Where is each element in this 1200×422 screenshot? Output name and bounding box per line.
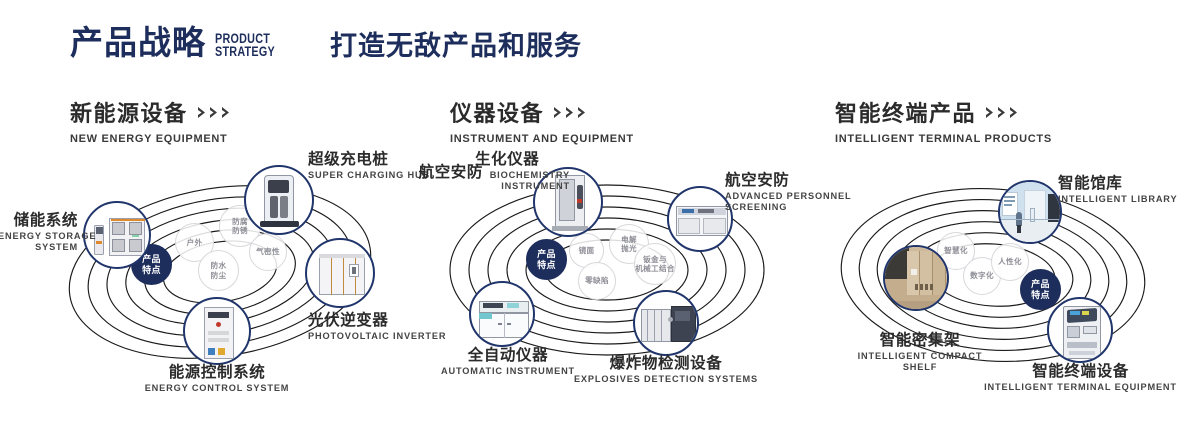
cluster-new-energy: 户外 防腐防锈 防水防尘 气密性 产品特点 储能系统 ENERGY STORAG…	[50, 150, 390, 390]
charging-pile-icon	[246, 167, 312, 233]
section-title-en: INTELLIGENT TERMINAL PRODUCTS	[835, 133, 1052, 145]
feature-bubble: 人性化	[991, 243, 1029, 281]
control-cabinet-icon	[185, 299, 249, 363]
node-label-biochemistry-instrument: 生化仪器 BIOCHEMISTRYINSTRUMENT	[475, 151, 585, 191]
node-intelligent-terminal-equipment[interactable]	[1047, 297, 1113, 363]
node-label-intelligent-compact-shelf: 智能密集架 INTELLIGENT COMPACTSHELF	[825, 332, 1015, 372]
cluster-intelligent-terminal: 智慧化 数字化 人性化 产品特点 智能馆库 INTELLIGENT	[815, 150, 1175, 400]
node-explosives-detection-system[interactable]	[633, 290, 699, 356]
chevron-right-triple-icon	[985, 106, 1020, 119]
node-label-en: ENERGY CONTROL SYSTEM	[87, 383, 347, 393]
smart-library-icon	[1000, 182, 1060, 242]
section-title-en: NEW ENERGY EQUIPMENT	[70, 133, 232, 145]
feature-bubble: 气密性	[249, 233, 287, 271]
chevron-right-triple-icon	[553, 106, 588, 119]
section-heading-new-energy: 新能源设备 NEW ENERGY EQUIPMENT	[70, 96, 232, 145]
node-label-en: INTELLIGENT LIBRARY	[1058, 194, 1198, 204]
auto-analyzer-icon	[471, 283, 533, 345]
cluster-instruments: 镜面 电解抛光 零缺陷 钣金与机械工结合 产品特点 生化仪器 BIOCHEMIS…	[425, 150, 785, 395]
node-label-en: ENERGY STORAGESYSTEM	[0, 231, 78, 252]
page-title-en: PRODUCT STRATEGY	[215, 33, 275, 58]
section-title-cn: 智能终端产品	[835, 96, 976, 128]
chevron-right-triple-icon	[197, 106, 232, 119]
node-label-energy-control-system: 能源控制系统 ENERGY CONTROL SYSTEM	[87, 364, 347, 394]
kiosk-terminal-icon	[1049, 299, 1111, 361]
node-automatic-instrument[interactable]	[469, 281, 535, 347]
feature-bubble: 防水防尘	[198, 250, 239, 291]
node-label-en: INTELLIGENT COMPACTSHELF	[825, 351, 1015, 372]
node-label-en: AUTOMATIC INSTRUMENT	[408, 366, 608, 376]
page-title-en-line2: STRATEGY	[215, 46, 275, 59]
compact-shelf-icon	[885, 247, 947, 309]
screening-machine-icon	[669, 188, 731, 250]
section-heading-intelligent-terminal: 智能终端产品 INTELLIGENT TERMINAL PRODUCTS	[835, 96, 1052, 145]
section-title-cn: 仪器设备	[450, 96, 544, 128]
center-bubble-product-features: 产品特点	[526, 239, 567, 280]
node-super-charging-hub[interactable]	[244, 165, 314, 235]
page-title: 产品战略 PRODUCT STRATEGY	[70, 26, 290, 59]
node-label-energy-storage-system: 储能系统 ENERGY STORAGESYSTEM	[0, 212, 78, 252]
node-label-en: BIOCHEMISTRYINSTRUMENT	[475, 170, 570, 191]
feature-bubble: 零缺陷	[578, 262, 616, 300]
poster-canvas: 产品战略 PRODUCT STRATEGY 打造无敌产品和服务 新能源设备 NE…	[0, 0, 1200, 422]
section-heading-instruments: 仪器设备 INSTRUMENT AND EQUIPMENT	[450, 96, 634, 145]
node-label-en: INTELLIGENT TERMINAL EQUIPMENT	[973, 382, 1188, 392]
section-title-cn: 新能源设备	[70, 96, 188, 128]
page-subtitle: 打造无敌产品和服务	[330, 32, 582, 62]
node-intelligent-compact-shelf[interactable]	[883, 245, 949, 311]
explosives-detector-icon	[635, 292, 697, 354]
node-label-aviation-security-extra: 航空安防	[383, 164, 483, 181]
node-photovoltaic-inverter[interactable]	[305, 238, 375, 308]
node-label-intelligent-library: 智能馆库 INTELLIGENT LIBRARY	[1058, 175, 1198, 205]
inverter-cabinet-icon	[307, 240, 373, 306]
node-intelligent-library[interactable]	[998, 180, 1062, 244]
node-advanced-personnel-screening[interactable]	[667, 186, 733, 252]
section-title-en: INSTRUMENT AND EQUIPMENT	[450, 133, 634, 145]
page-title-cn: 产品战略	[70, 26, 206, 59]
node-energy-control-system[interactable]	[183, 297, 251, 365]
node-label-automatic-instrument: 全自动仪器 AUTOMATIC INSTRUMENT	[408, 347, 608, 377]
